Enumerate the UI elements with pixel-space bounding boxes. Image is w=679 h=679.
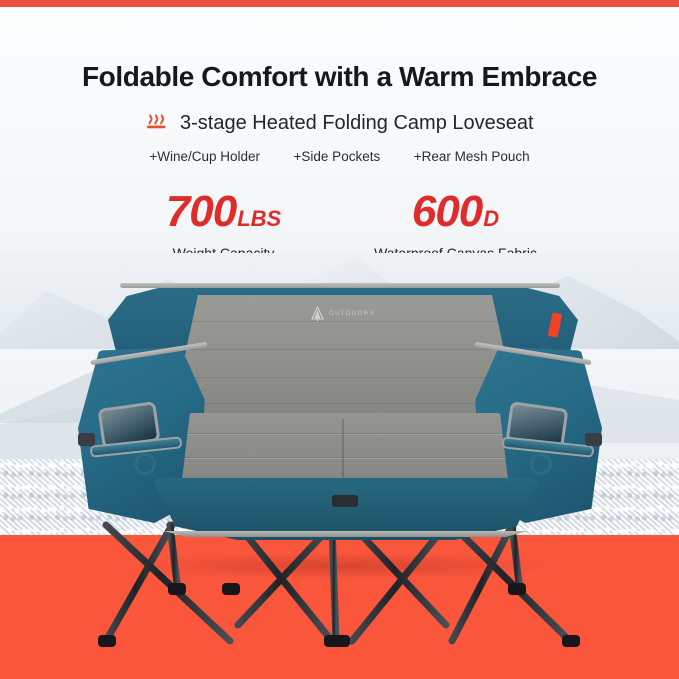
top-accent-bar [0, 0, 679, 7]
product-marketing-image: Foldable Comfort with a Warm Embrace 3-s… [0, 0, 679, 679]
heat-waves-icon [145, 112, 167, 137]
product-photo-scene: OUTDOORS [0, 253, 679, 679]
strap-buckle-left [78, 433, 95, 446]
header-copy-area: Foldable Comfort with a Warm Embrace 3-s… [0, 7, 679, 260]
page-title: Foldable Comfort with a Warm Embrace [0, 61, 679, 93]
feature-item-1: +Wine/Cup Holder [149, 149, 260, 164]
seat-pull-tab [332, 495, 358, 507]
brand-logo: OUTDOORS [310, 305, 400, 323]
stat-unit: LBS [237, 206, 281, 231]
d-ring-left [134, 453, 156, 475]
stat-value: 600 [412, 187, 482, 236]
stat-unit: D [483, 206, 499, 231]
backrest-top-piping [120, 283, 560, 288]
stat-value-group: 600D [340, 189, 572, 242]
stat-value-group: 700LBS [108, 189, 340, 242]
pine-tree-icon [310, 306, 325, 322]
product-subtitle: 3-stage Heated Folding Camp Loveseat [0, 112, 679, 137]
strap-buckle-right [585, 433, 602, 446]
chair-body: OUTDOORS [60, 273, 620, 548]
feature-item-3: +Rear Mesh Pouch [414, 149, 530, 164]
d-ring-right [530, 453, 552, 475]
chair-front-apron [152, 478, 540, 540]
stat-value: 700 [166, 187, 236, 236]
chair-apron-trim [156, 531, 536, 537]
stats-row: 700LBS Weight Capacity 600D Waterproof C… [0, 189, 679, 261]
feature-item-2: +Side Pockets [294, 149, 381, 164]
product-subtitle-text: 3-stage Heated Folding Camp Loveseat [180, 112, 534, 135]
stat-weight-capacity: 700LBS Weight Capacity [108, 189, 340, 261]
brand-logo-text: OUTDOORS [329, 311, 375, 317]
camp-loveseat-product: OUTDOORS [60, 273, 620, 653]
feature-list: +Wine/Cup Holder +Side Pockets +Rear Mes… [0, 149, 679, 164]
stat-fabric-denier: 600D Waterproof Canvas Fabric [340, 189, 572, 261]
